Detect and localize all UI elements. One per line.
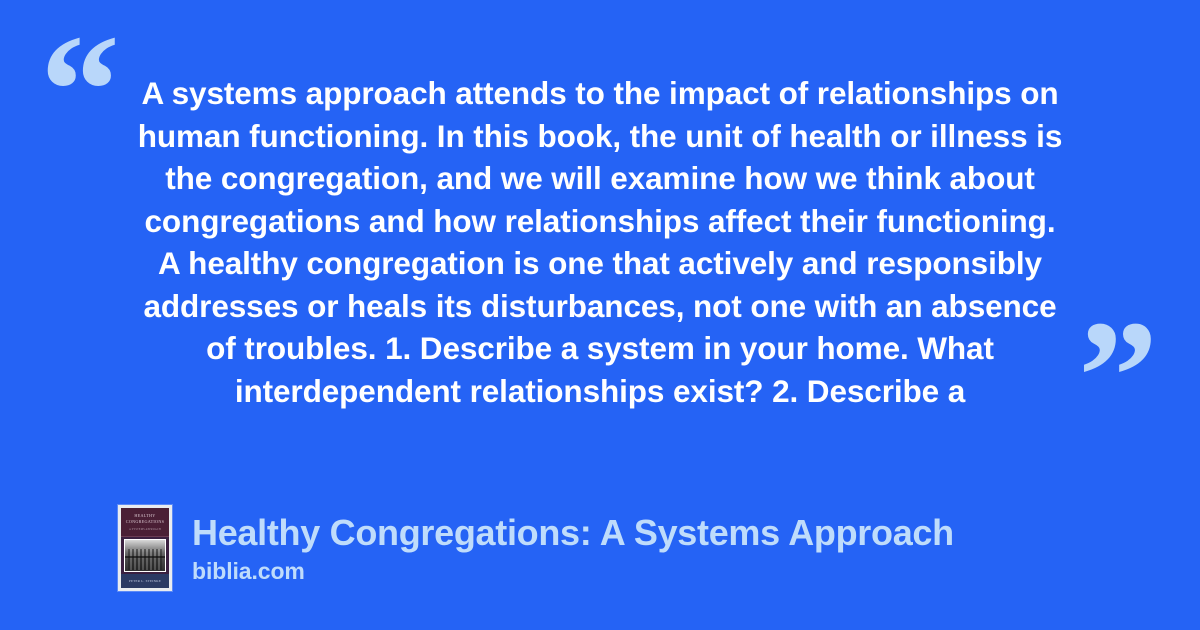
book-cover-thumbnail[interactable]: Healthy Congregations A Systems Approach… [118, 505, 172, 591]
quote-line: A systems approach attends to the impact… [108, 72, 1092, 115]
book-title[interactable]: Healthy Congregations: A Systems Approac… [192, 512, 954, 554]
attribution-footer: Healthy Congregations A Systems Approach… [118, 505, 954, 591]
quote-line: interdependent relationships exist? 2. D… [108, 370, 1092, 413]
book-cover-title-line-2: Congregations [126, 520, 164, 525]
book-cover-subtitle: A Systems Approach [129, 528, 161, 531]
quote-line: the congregation, and we will examine ho… [108, 157, 1092, 200]
site-name[interactable]: biblia.com [192, 558, 954, 584]
quote-text: A systems approach attends to the impact… [108, 72, 1092, 412]
quote-line: of troubles. 1. Describe a system in you… [108, 327, 1092, 370]
book-cover-author-band: Peter L. Steinke [121, 574, 169, 588]
quote-line: A healthy congregation is one that activ… [108, 242, 1092, 285]
book-cover-title-band: Healthy Congregations A Systems Approach [121, 508, 169, 537]
footer-text-group: Healthy Congregations: A Systems Approac… [192, 512, 954, 584]
book-cover-author: Peter L. Steinke [129, 579, 161, 583]
quote-card: “ ” A systems approach attends to the im… [0, 0, 1200, 630]
quote-line: human functioning. In this book, the uni… [108, 115, 1092, 158]
quote-line: congregations and how relationships affe… [108, 200, 1092, 243]
book-cover-art: Healthy Congregations A Systems Approach… [121, 508, 169, 588]
quote-line: addresses or heals its disturbances, not… [108, 285, 1092, 328]
book-cover-photo [124, 539, 166, 573]
